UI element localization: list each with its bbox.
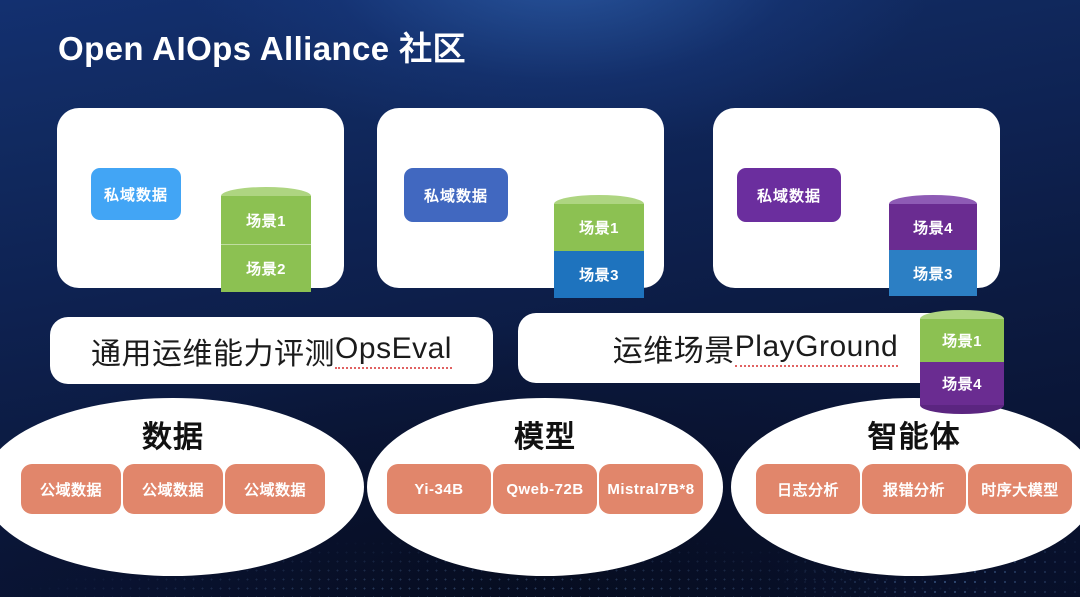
opseval-bar: 通用运维能力评测OpsEval xyxy=(50,317,493,384)
private-data-badge: 私域数据 xyxy=(404,168,508,222)
playground-label-cn: 运维场景 xyxy=(613,326,735,370)
ellipse-model: 模型 Yi-34B Qweb-72B Mistral7B*8 xyxy=(367,398,723,576)
cylinder-segment: 场景4 xyxy=(920,362,1004,405)
private-data-card-1: 私域数据 场景1 场景2 xyxy=(57,108,344,288)
page-title: Open AIOps Alliance 社区 xyxy=(58,22,466,70)
cylinder-segment: 场景4 xyxy=(889,204,977,250)
private-data-card-3: 私域数据 场景4 场景3 xyxy=(713,108,1000,288)
cylinder-segment: 场景1 xyxy=(221,196,311,244)
ellipse-agent: 智能体 日志分析 报错分析 时序大模型 xyxy=(731,398,1080,576)
playground-scenario-cylinder: 场景1 场景4 xyxy=(920,319,1004,405)
pill-item: 时序大模型 xyxy=(968,464,1072,514)
pill-item: 公域数据 xyxy=(123,464,223,514)
cylinder-segment: 场景1 xyxy=(920,319,1004,362)
pill-row: 公域数据 公域数据 公域数据 xyxy=(0,464,364,514)
pill-item: Yi-34B xyxy=(387,464,491,514)
pill-item: Qweb-72B xyxy=(493,464,597,514)
pill-row: Yi-34B Qweb-72B Mistral7B*8 xyxy=(367,464,723,514)
scenario-cylinder-1: 场景1 场景2 xyxy=(221,196,311,292)
pill-item: 公域数据 xyxy=(21,464,121,514)
opseval-label-en: OpsEval xyxy=(335,332,452,369)
cylinder-segment: 场景3 xyxy=(554,251,644,298)
scenario-cylinder-2: 场景1 场景3 xyxy=(554,204,644,298)
playground-label-en: PlayGround xyxy=(735,330,898,367)
private-data-card-2: 私域数据 场景1 场景3 xyxy=(377,108,664,288)
pill-item: Mistral7B*8 xyxy=(599,464,703,514)
private-data-badge: 私域数据 xyxy=(91,168,181,220)
pill-item: 报错分析 xyxy=(862,464,966,514)
ellipse-title: 智能体 xyxy=(731,412,1080,456)
cylinder-segment: 场景1 xyxy=(554,204,644,251)
ellipse-title: 模型 xyxy=(367,412,723,456)
pill-row: 日志分析 报错分析 时序大模型 xyxy=(731,464,1080,514)
opseval-label-cn: 通用运维能力评测 xyxy=(91,329,335,373)
cylinder-segment: 场景3 xyxy=(889,250,977,296)
private-data-badge: 私域数据 xyxy=(737,168,841,222)
ellipse-data: 数据 公域数据 公域数据 公域数据 xyxy=(0,398,364,576)
ellipse-title: 数据 xyxy=(0,412,364,456)
pill-item: 日志分析 xyxy=(756,464,860,514)
pill-item: 公域数据 xyxy=(225,464,325,514)
cylinder-segment: 场景2 xyxy=(221,244,311,292)
slide-canvas: Open AIOps Alliance 社区 私域数据 场景1 场景2 私域数据… xyxy=(0,0,1080,597)
scenario-cylinder-3: 场景4 场景3 xyxy=(889,204,977,296)
